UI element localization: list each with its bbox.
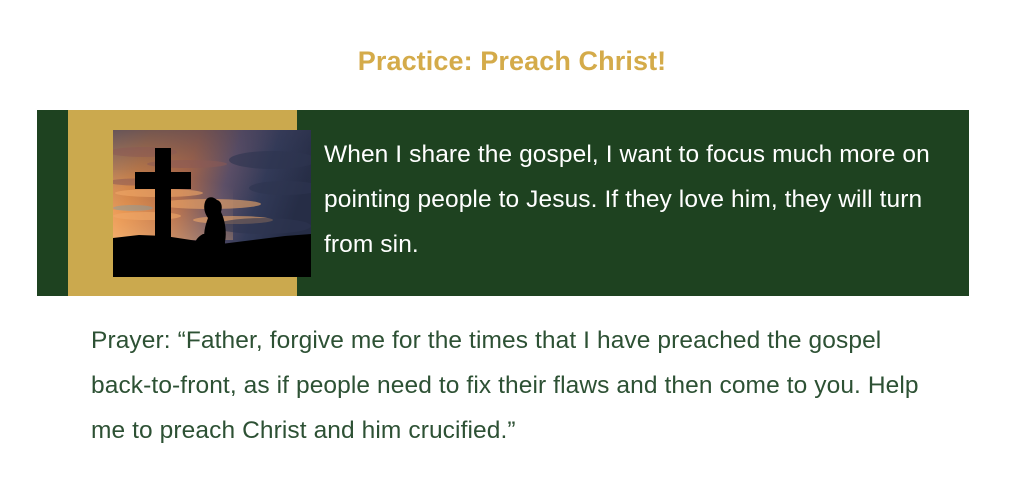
photo-accent-band <box>68 110 297 296</box>
slide-root: { "slide": { "title": "Practice: Preach … <box>0 0 1024 485</box>
cross-silhouette-image <box>113 130 311 277</box>
quote-text: When I share the gospel, I want to focus… <box>324 132 944 267</box>
quote-panel: When I share the gospel, I want to focus… <box>37 110 969 296</box>
prayer-text: Prayer: “Father, forgive me for the time… <box>91 318 939 453</box>
page-title: Practice: Preach Christ! <box>0 44 1024 78</box>
cross-silhouette-photo <box>113 130 311 277</box>
